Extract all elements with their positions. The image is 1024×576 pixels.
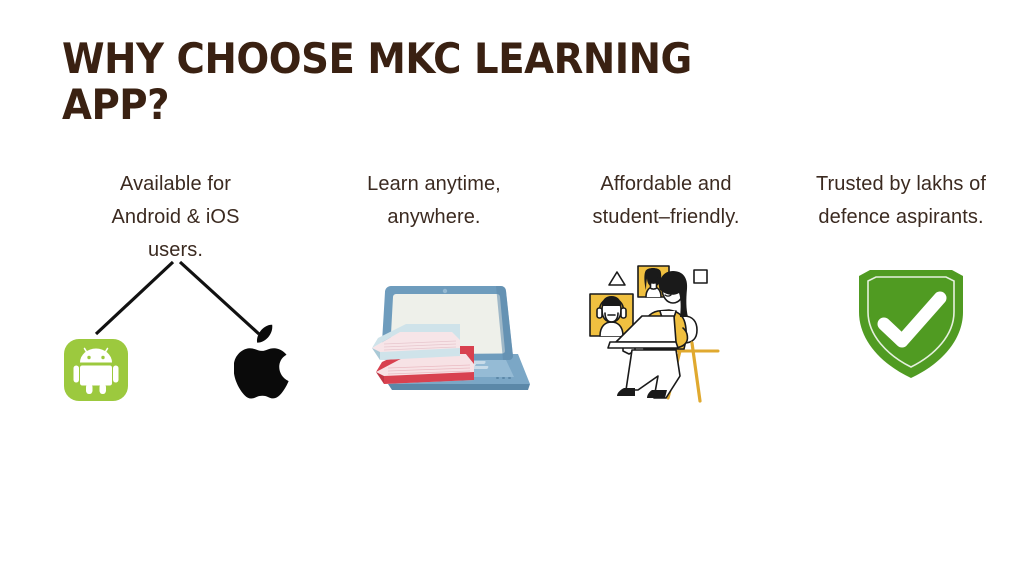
platforms-illustration — [54, 252, 304, 412]
column-affordable: Affordable and student–friendly. — [552, 168, 780, 234]
android-icon[interactable] — [64, 339, 128, 401]
square-shape — [694, 270, 707, 283]
caption-anytime: Learn anytime, anywhere. — [318, 168, 550, 234]
online-class-illustration — [580, 258, 740, 406]
android-robot-glyph — [73, 346, 119, 394]
video-call-thumbnail-left — [590, 294, 633, 336]
column-trusted: Trusted by lakhs of defence aspirants. — [782, 168, 1020, 234]
slide-canvas: WHY CHOOSE MKC LEARNING APP? Available f… — [0, 0, 1024, 576]
laptop-and-books-illustration — [370, 280, 535, 405]
shield-check-icon — [846, 268, 976, 380]
apple-icon[interactable] — [234, 324, 294, 400]
caption-trusted: Trusted by lakhs of defence aspirants. — [782, 168, 1020, 234]
column-anytime: Learn anytime, anywhere. — [318, 168, 550, 234]
page-title: WHY CHOOSE MKC LEARNING APP? — [62, 36, 706, 128]
caption-affordable: Affordable and student–friendly. — [552, 168, 780, 234]
triangle-shape — [609, 272, 625, 285]
